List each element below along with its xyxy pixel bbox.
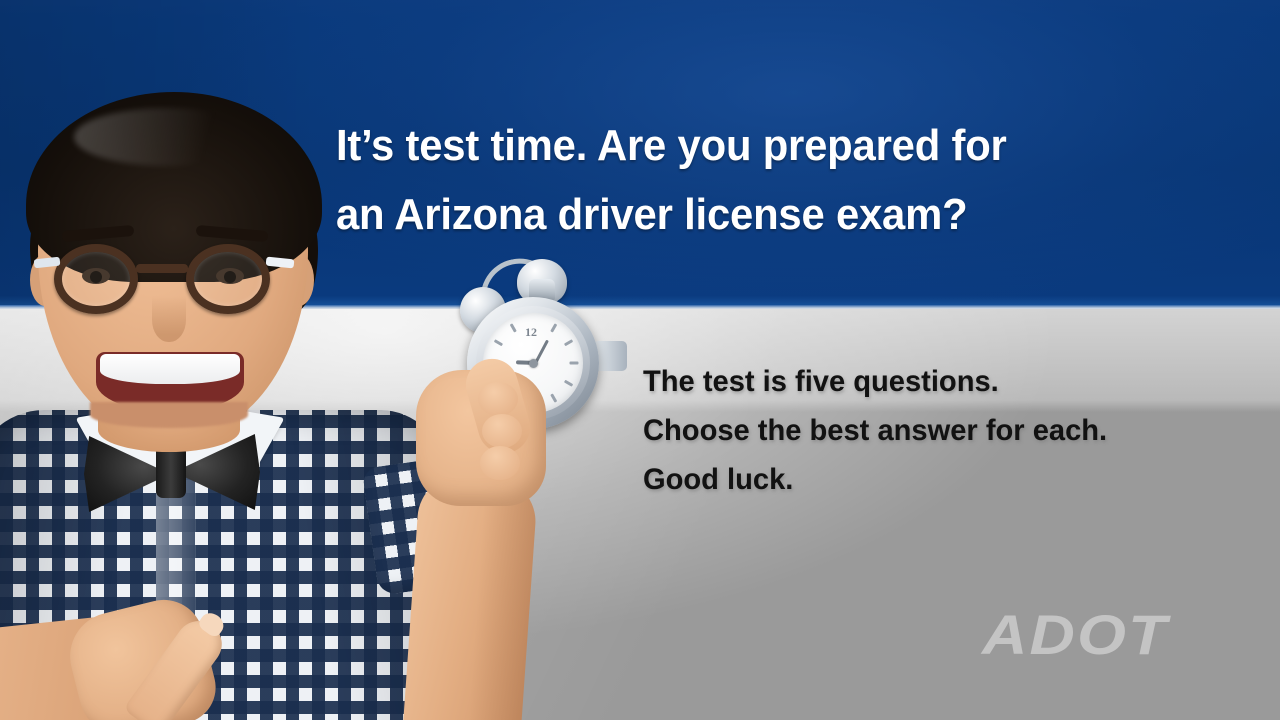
clock-tick-8 [494,380,503,387]
hair-highlight [74,108,264,166]
eyeglasses-right-lens [186,244,270,314]
clock-tick-1 [550,323,557,332]
instructions-line-1: The test is five questions. [643,358,1225,407]
eyeglasses-bridge [136,264,188,273]
teeth [100,354,240,384]
headline-line-2: an Arizona driver license exam? [336,181,1153,250]
headline-line-1: It’s test time. Are you prepared for [336,112,1153,181]
adot-logo-watermark: ADOT [982,602,1169,667]
clock-tick-4 [564,380,573,387]
slide-canvas: It’s test time. Are you prepared for an … [0,0,1280,720]
clock-tick-11 [510,323,517,332]
instructions-text: The test is five questions. Choose the b… [643,358,1225,505]
clock-tick-2 [564,339,573,346]
alarm-clock-icon: 12 6 [455,255,635,440]
eyeglasses-left-lens [54,244,138,314]
lower-lip [90,402,248,428]
person-photo [0,58,448,720]
instructions-line-3: Good luck. [643,456,1225,505]
clock-tick-10 [494,339,503,346]
instructions-line-2: Choose the best answer for each. [643,407,1225,456]
nose [152,296,186,342]
clock-dial: 12 6 [483,313,583,413]
clock-hand-hub [529,359,538,368]
bowtie-knot [156,444,186,498]
clock-numeral-6: 6 [529,387,535,402]
clock-numeral-12: 12 [525,325,537,340]
clock-tick-9 [489,362,498,365]
page-title: It’s test time. Are you prepared for an … [336,112,1153,249]
clock-tick-3 [570,362,579,365]
clock-tick-5 [550,393,557,402]
raised-forearm [400,472,539,720]
clock-tick-7 [510,393,517,402]
